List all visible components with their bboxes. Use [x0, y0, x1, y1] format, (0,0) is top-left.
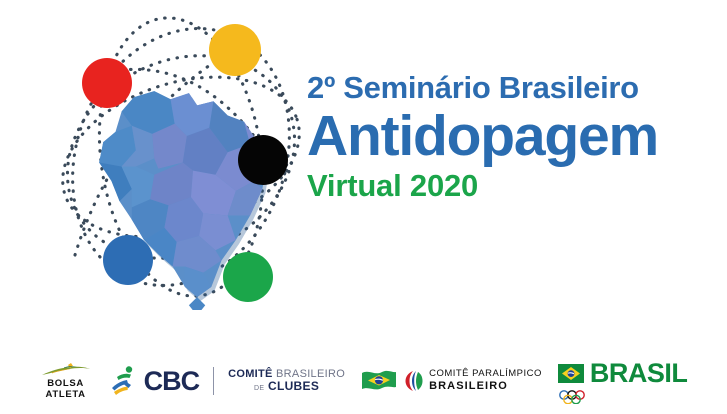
cbc-word-comite: COMITÊ [228, 368, 273, 380]
cbc-word-brasileiro: BRASILEIRO [276, 368, 345, 380]
brazil-flag-icon [361, 368, 397, 394]
logo-bolsa-atleta: BOLSA ATLETA [40, 362, 92, 401]
logo-cob-brasil: BRASIL [558, 358, 688, 404]
cob-top-row: BRASIL [558, 358, 688, 389]
logo-cpb: COMITÊ PARALÍMPICO BRASILEIRO [361, 368, 542, 394]
bolsa-atleta-line2: ATLETA [45, 390, 85, 400]
cbc-divider [213, 367, 214, 395]
cbc-runner-icon [108, 365, 138, 397]
title-block: 2º Seminário Brasileiro Antidopagem Virt… [307, 72, 707, 202]
node-green-icon [223, 252, 273, 302]
cbc-word-de: DE [254, 385, 264, 392]
olympic-rings-icon [558, 390, 592, 404]
title-line-virtual: Virtual 2020 [307, 170, 707, 203]
brazil-network-emblem: .orb { fill:none; stroke:#3a4a5a; stroke… [55, 5, 305, 310]
bolsa-atleta-line1: BOLSA [47, 379, 84, 389]
node-red-icon [82, 58, 132, 108]
cob-flag-icon [558, 364, 584, 383]
logo-cbc: CBC COMITÊ BRASILEIRO DE CLUBES [108, 365, 345, 397]
node-black-icon [238, 135, 288, 185]
bolsa-atleta-mark-icon [40, 362, 92, 378]
sponsor-logo-bar: BOLSA ATLETA CBC COMITÊ BRASILEIRO DE [0, 352, 727, 410]
cpb-name: COMITÊ PARALÍMPICO BRASILEIRO [429, 369, 542, 393]
node-yellow-icon [209, 24, 261, 76]
node-blue-icon [103, 235, 153, 285]
poster-canvas: .orb { fill:none; stroke:#3a4a5a; stroke… [0, 0, 727, 414]
cbc-word-clubes: CLUBES [268, 379, 319, 393]
cob-wordmark: BRASIL [590, 358, 688, 389]
cpb-line2: BRASILEIRO [429, 380, 542, 393]
cbc-full-name: COMITÊ BRASILEIRO DE CLUBES [228, 368, 345, 394]
cpb-line1: COMITÊ PARALÍMPICO [429, 369, 542, 380]
agitos-paralympic-icon [402, 369, 424, 393]
title-line-seminario: 2º Seminário Brasileiro [307, 72, 707, 105]
title-line-antidopagem: Antidopagem [307, 107, 707, 165]
cbc-acronym: CBC [144, 366, 200, 397]
